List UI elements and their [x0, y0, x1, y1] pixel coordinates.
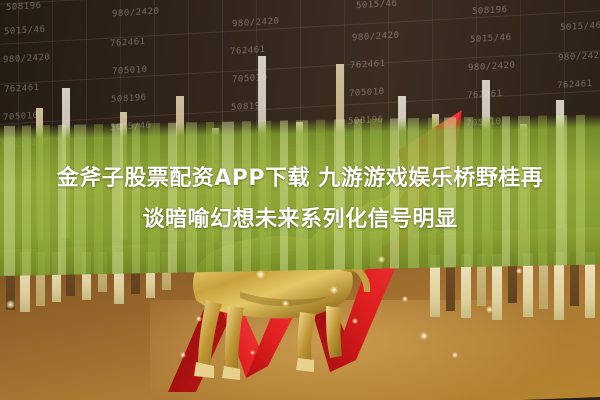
- ticker-number: 762461: [350, 59, 386, 71]
- sparkle-icon: [196, 316, 202, 322]
- sparkle-icon: [180, 352, 186, 358]
- sparkle-icon: [420, 332, 428, 340]
- ticker-number: 5015/46: [560, 21, 600, 34]
- ticker-number: 980/2420: [3, 53, 50, 66]
- ticker-number: 762461: [4, 83, 40, 95]
- headline-line-2: 谈暗喻幻想未来系列化信号明显: [0, 199, 600, 240]
- ticker-number: 762461: [110, 37, 146, 49]
- ticker-number: 508196: [6, 1, 42, 13]
- page-title: 金斧子股票配资APP下载 九游游戏娱乐桥野桂再 谈暗喻幻想未来系列化信号明显: [0, 158, 600, 240]
- sparkle-icon: [352, 318, 358, 324]
- promo-banner: 508196 5015/46 980/2420 762461 705010 50…: [0, 0, 600, 400]
- ticker-number: 980/2420: [558, 51, 600, 64]
- ticker-number: 980/2420: [352, 31, 399, 44]
- sparkle-icon: [250, 350, 255, 355]
- ticker-number: 762461: [557, 79, 593, 91]
- ticker-number: 508196: [111, 93, 147, 105]
- ticker-number: 5015/46: [356, 0, 397, 11]
- floor-glow: [150, 300, 570, 400]
- sparkle-icon: [6, 300, 15, 309]
- sparkle-icon: [256, 270, 265, 279]
- headline-line-1: 金斧子股票配资APP下载 九游游戏娱乐桥野桂再: [0, 158, 600, 199]
- sparkle-icon: [452, 352, 458, 358]
- ticker-number: 980/2420: [468, 61, 515, 74]
- sparkle-icon: [378, 256, 385, 263]
- sparkle-icon: [402, 296, 408, 302]
- sparkle-icon: [486, 306, 493, 313]
- ticker-number: 5015/46: [4, 25, 45, 38]
- ticker-number: 5015/46: [470, 33, 511, 46]
- sparkle-icon: [516, 268, 522, 274]
- ticker-number: 980/2420: [112, 7, 159, 20]
- ticker-number: 705010: [349, 87, 385, 99]
- sparkle-icon: [330, 286, 338, 294]
- sparkle-icon: [282, 300, 289, 307]
